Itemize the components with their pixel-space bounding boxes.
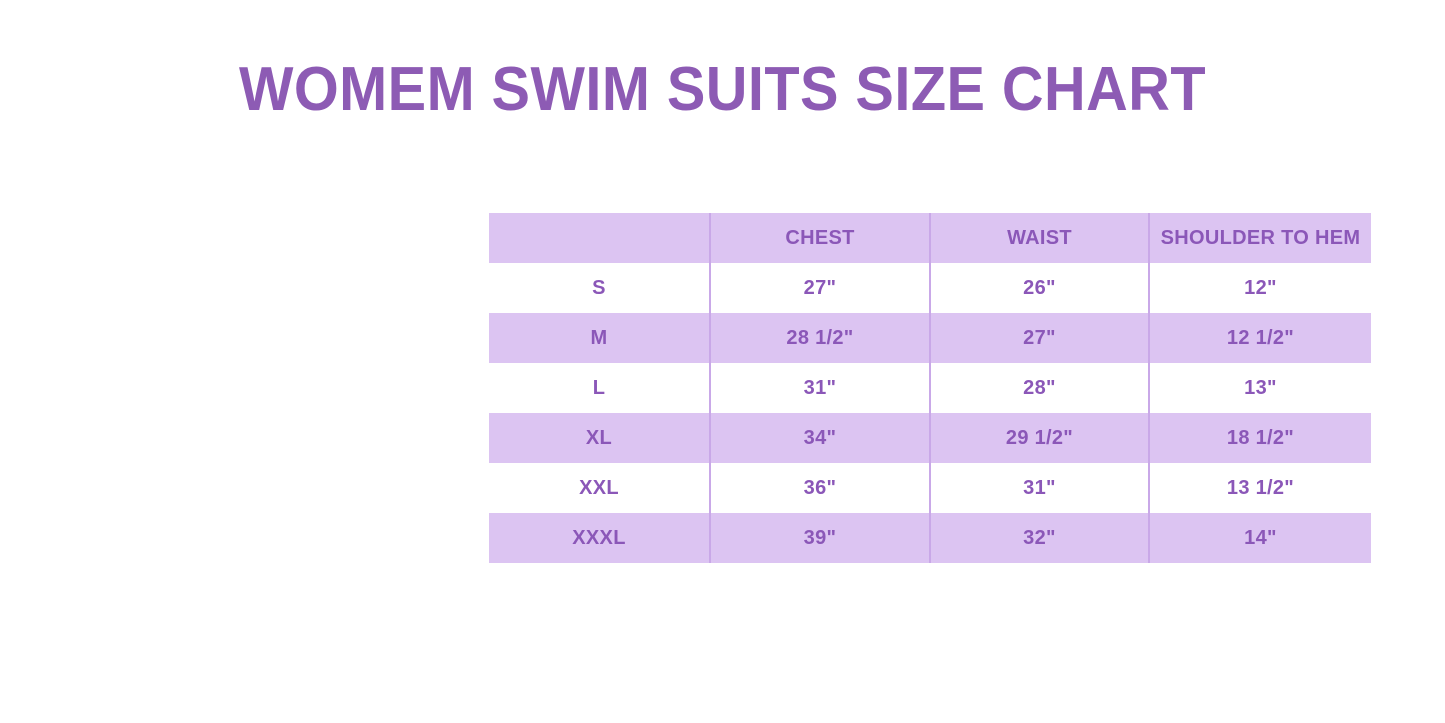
table-header-row: CHEST WAIST SHOULDER TO HEM [489, 213, 1371, 263]
cell-size: S [489, 263, 710, 313]
table-row: S 27" 26" 12" [489, 263, 1371, 313]
table-row: XXXL 39" 32" 14" [489, 513, 1371, 563]
cell-shoulder-to-hem: 13" [1149, 363, 1371, 413]
table-row: M 28 1/2" 27" 12 1/2" [489, 313, 1371, 363]
cell-chest: 39" [710, 513, 930, 563]
cell-chest: 28 1/2" [710, 313, 930, 363]
size-chart-table-container: CHEST WAIST SHOULDER TO HEM S 27" 26" 12… [489, 213, 1371, 566]
table-body: S 27" 26" 12" M 28 1/2" 27" 12 1/2" L 31… [489, 263, 1371, 563]
table-header: CHEST WAIST SHOULDER TO HEM [489, 213, 1371, 263]
table-row: XXL 36" 31" 13 1/2" [489, 463, 1371, 513]
header-cell-shoulder-to-hem: SHOULDER TO HEM [1149, 213, 1371, 263]
cell-shoulder-to-hem: 12 1/2" [1149, 313, 1371, 363]
cell-shoulder-to-hem: 18 1/2" [1149, 413, 1371, 463]
table-row: XL 34" 29 1/2" 18 1/2" [489, 413, 1371, 463]
header-cell-waist: WAIST [930, 213, 1149, 263]
page-title: WOMEM SWIM SUITS SIZE CHART [51, 54, 1395, 126]
cell-waist: 28" [930, 363, 1149, 413]
cell-size: L [489, 363, 710, 413]
cell-waist: 26" [930, 263, 1149, 313]
size-chart-table: CHEST WAIST SHOULDER TO HEM S 27" 26" 12… [489, 213, 1371, 563]
cell-size: M [489, 313, 710, 363]
cell-size: XL [489, 413, 710, 463]
cell-chest: 36" [710, 463, 930, 513]
cell-waist: 31" [930, 463, 1149, 513]
cell-chest: 31" [710, 363, 930, 413]
header-cell-size [489, 213, 710, 263]
cell-shoulder-to-hem: 12" [1149, 263, 1371, 313]
cell-waist: 29 1/2" [930, 413, 1149, 463]
cell-shoulder-to-hem: 14" [1149, 513, 1371, 563]
cell-chest: 27" [710, 263, 930, 313]
header-cell-chest: CHEST [710, 213, 930, 263]
cell-waist: 27" [930, 313, 1149, 363]
cell-shoulder-to-hem: 13 1/2" [1149, 463, 1371, 513]
cell-size: XXXL [489, 513, 710, 563]
cell-chest: 34" [710, 413, 930, 463]
cell-size: XXL [489, 463, 710, 513]
cell-waist: 32" [930, 513, 1149, 563]
table-row: L 31" 28" 13" [489, 363, 1371, 413]
